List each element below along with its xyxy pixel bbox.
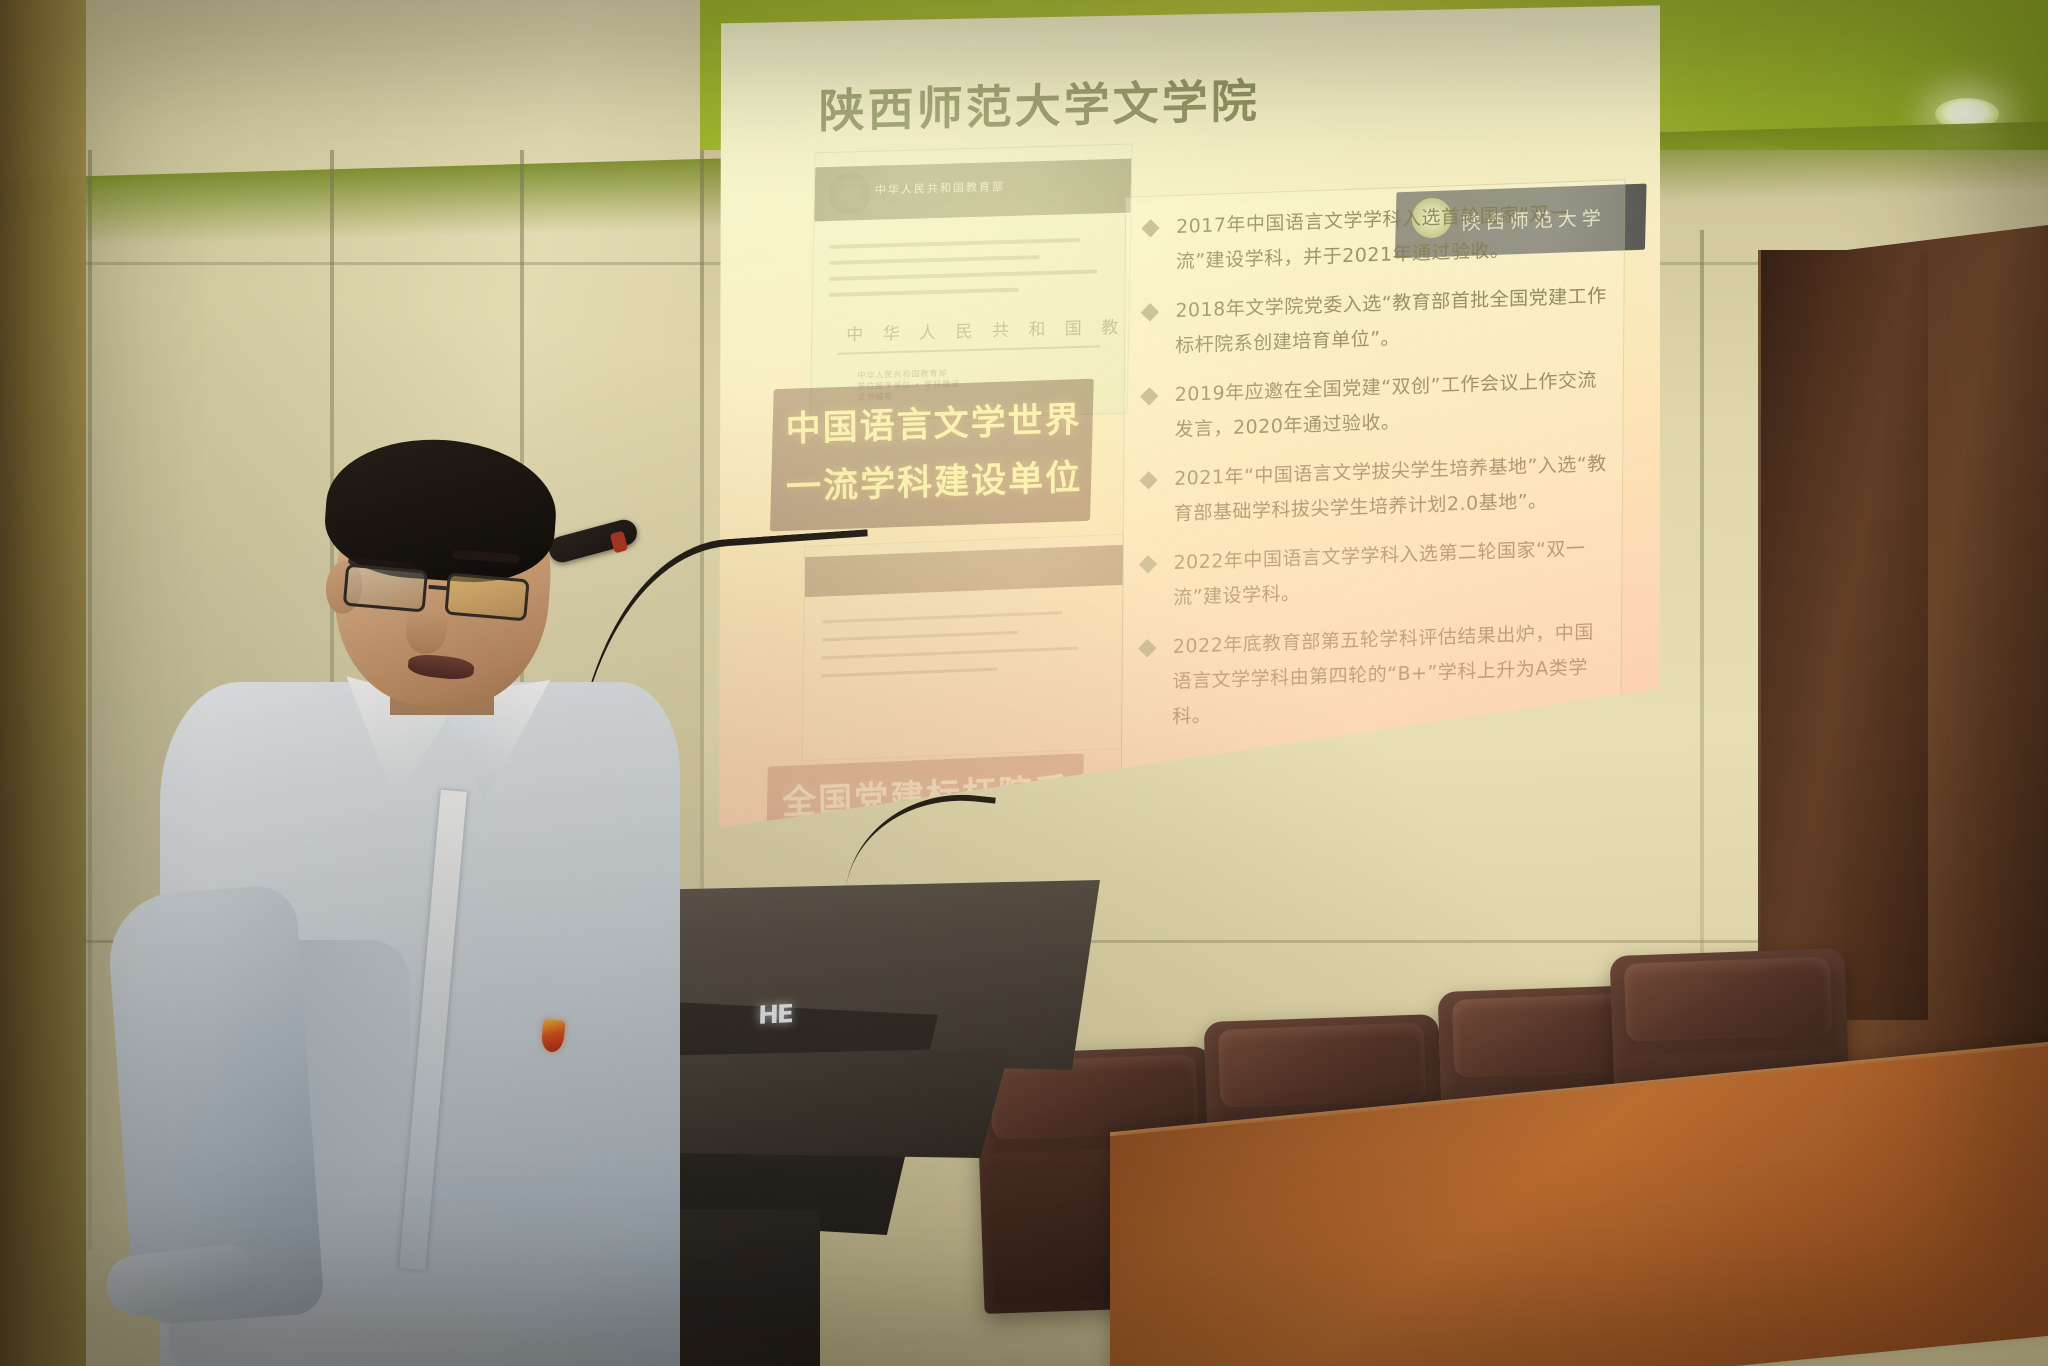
certificate-heading: 中 华 人 民 共 和 国 教 育 部 — [846, 311, 1133, 346]
wood-door[interactable] — [1758, 250, 1928, 1020]
slide-bullet-list: 2017年中国语言文学学科入选首轮国家“双一流”建设学科，并于2021年通过验收… — [1121, 179, 1626, 796]
banner-primary-line1: 中国语言文学世界 — [783, 391, 1084, 459]
list-item: 2017年中国语言文学学科入选首轮国家“双一流”建设学科，并于2021年通过验收… — [1136, 195, 1615, 282]
lecture-hall-photo: 陕西师范大学文学院 中华人民共和国教育部 中 华 人 民 共 和 国 教 育 部… — [0, 0, 2048, 1366]
list-item-text: 2022年底教育部第五轮学科评估结果出炉，中国语言文学学科由第四轮的“B+”学科… — [1172, 621, 1594, 728]
list-item-text: 2017年中国语言文学学科入选首轮国家“双一流”建设学科，并于2021年通过验收… — [1176, 202, 1569, 273]
certificate-text-line — [830, 255, 1040, 265]
eyeglass-lens-right — [444, 572, 529, 621]
banner-primary-line2: 一流学科建设单位 — [784, 449, 1085, 517]
list-item: 2018年文学院党委入选“教育部首批全国党建工作标杆院系创建培育单位”。 — [1135, 279, 1614, 366]
left-wood-trim — [0, 0, 86, 1366]
banner-primary: 中国语言文学世界 一流学科建设单位 — [783, 391, 1084, 517]
chair-headrest — [1218, 1022, 1427, 1107]
certificate-text-line — [830, 238, 1080, 249]
chair-headrest — [1624, 956, 1833, 1041]
certificate-text-line — [829, 288, 1019, 297]
list-item: 2022年底教育部第五轮学科评估结果出炉，中国语言文学学科由第四轮的“B+”学科… — [1132, 615, 1611, 737]
podium-brand-logo: HE — [758, 999, 792, 1030]
slide-title: 陕西师范大学文学院 — [819, 65, 1260, 141]
diamond-bullet-icon — [1139, 555, 1157, 573]
list-item-text: 2022年中国语言文学学科入选第二轮国家“双一流”建设学科。 — [1173, 538, 1585, 609]
diamond-bullet-icon — [1141, 303, 1159, 321]
speaker — [90, 420, 710, 1366]
list-item-text: 2021年“中国语言文学拔尖学生培养基地”入选“教育部基础学科拔尖学生培养计划2… — [1174, 453, 1607, 525]
diamond-bullet-icon — [1139, 471, 1157, 489]
certificate-text-line — [829, 269, 1097, 280]
list-item: 2019年应邀在全国党建“双创”工作会议上作交流发言，2020年通过验收。 — [1134, 363, 1613, 450]
diamond-bullet-icon — [1141, 219, 1159, 237]
list-item-text: 2018年文学院党委入选“教育部首批全国党建工作标杆院系创建培育单位”。 — [1175, 285, 1607, 357]
list-item-text: 2019年应邀在全国党建“双创”工作会议上作交流发言，2020年通过验收。 — [1174, 369, 1597, 441]
certificate-rule — [838, 345, 1100, 354]
list-item: 2022年中国语言文学学科入选第二轮国家“双一流”建设学科。 — [1133, 531, 1612, 618]
diamond-bullet-icon — [1140, 387, 1158, 405]
list-item: 2021年“中国语言文学拔尖学生培养基地”入选“教育部基础学科拔尖学生培养计划2… — [1134, 447, 1613, 534]
diamond-bullet-icon — [1138, 639, 1156, 657]
eyeglass-lens-left — [343, 564, 428, 613]
